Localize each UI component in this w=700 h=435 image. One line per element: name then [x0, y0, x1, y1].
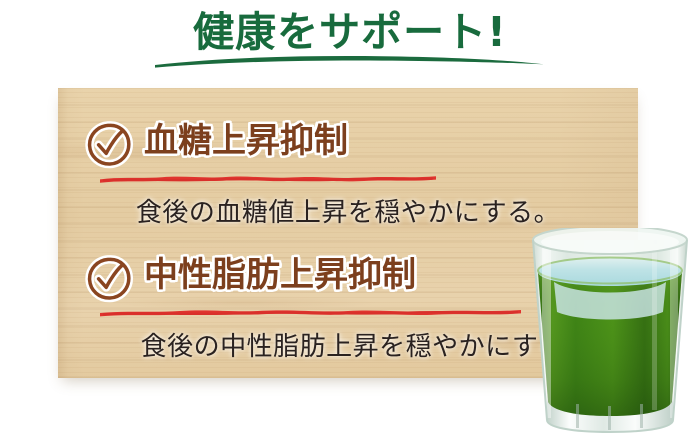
feature-item-blood-sugar: 血糖上昇抑制 食後の血糖値上昇を穏やかにする。	[58, 116, 638, 174]
check-circle-icon	[84, 120, 134, 170]
infographic-root: 健康をサポート! 血糖上昇抑制	[0, 0, 700, 435]
page-title: 健康をサポート!	[0, 8, 700, 56]
title-underline-stroke	[152, 52, 548, 72]
feature-heading-text: 中性脂肪上昇抑制	[144, 251, 416, 299]
feature-underline-stroke	[98, 305, 523, 319]
feature-underline-stroke	[98, 171, 438, 185]
feature-heading-text: 血糖上昇抑制	[144, 117, 348, 165]
feature-heading-row: 血糖上昇抑制	[58, 116, 638, 174]
juice-liquid	[538, 238, 682, 432]
title-block: 健康をサポート!	[0, 8, 700, 56]
glass-highlight-right	[670, 238, 678, 418]
feature-description-text: 食後の血糖値上昇を穏やかにする。	[58, 196, 638, 230]
green-juice-glass-image	[520, 228, 700, 435]
check-circle-icon	[84, 254, 134, 304]
glass-highlight-left	[542, 238, 551, 418]
